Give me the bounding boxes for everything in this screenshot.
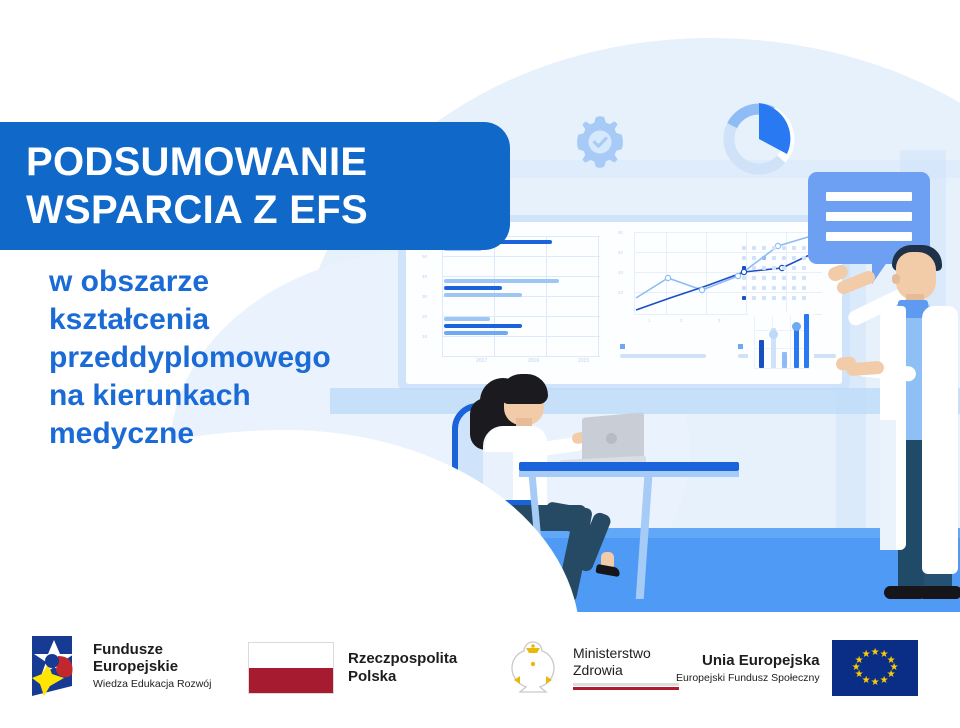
subtitle-line-3: przeddyplomowego bbox=[49, 339, 469, 377]
rp-title-1: Rzeczpospolita bbox=[348, 650, 457, 668]
poster-canvas: 60 50 40 30 20 10 2017 2016 2015 bbox=[0, 0, 960, 728]
desk-top bbox=[519, 462, 739, 471]
man-labcoat-right bbox=[922, 306, 958, 574]
ue-subtitle: Europejski Fundusz Społeczny bbox=[676, 672, 820, 684]
polish-eagle-icon bbox=[504, 636, 562, 698]
logo-unia-europejska: Unia Europejska Europejski Fundusz Społe… bbox=[676, 640, 918, 696]
fundusze-europejskie-icon bbox=[24, 634, 80, 698]
footer-logo-bar: Fundusze Europejskie Wiedza Edukacja Roz… bbox=[0, 612, 960, 728]
gear-check-icon bbox=[570, 112, 630, 172]
mz-title-1: Ministerstwo bbox=[573, 645, 679, 662]
fe-title-2: Europejskie bbox=[93, 659, 211, 676]
title-line-1: PODSUMOWANIE bbox=[26, 138, 510, 186]
ue-title-1: Unia Europejska bbox=[676, 652, 820, 670]
man-head bbox=[896, 252, 936, 300]
man-shoe-right bbox=[920, 586, 960, 599]
title-line-2: WSPARCIA Z EFS bbox=[26, 186, 510, 234]
woman-hair-front bbox=[500, 374, 548, 404]
subtitle-line-5: medyczne bbox=[49, 415, 469, 453]
fe-subtitle: Wiedza Edukacja Rozwój bbox=[93, 678, 211, 690]
subtitle-line-4: na kierunkach bbox=[49, 377, 469, 415]
mz-title-2: Zdrowia bbox=[573, 662, 679, 679]
man-ear bbox=[892, 274, 900, 284]
title-banner: PODSUMOWANIE WSPARCIA Z EFS bbox=[0, 122, 510, 250]
logo-ministerstwo-zdrowia: Ministerstwo Zdrowia bbox=[504, 636, 679, 698]
man-labcoat-shadow bbox=[880, 420, 896, 550]
vertical-bar-chart bbox=[748, 312, 814, 374]
subtitle-line-1: w obszarze bbox=[49, 263, 469, 301]
fe-title-1: Fundusze bbox=[93, 642, 211, 659]
donut-chart bbox=[718, 98, 800, 180]
eu-flag-icon: ★ ★ ★ ★ ★ ★ ★ ★ ★ ★ ★ ★ bbox=[832, 640, 918, 696]
laptop-logo bbox=[606, 433, 617, 444]
subtitle-line-2: kształcenia bbox=[49, 301, 469, 339]
man-shoe-left bbox=[884, 586, 924, 599]
desk-apron bbox=[519, 471, 739, 477]
rp-title-2: Polska bbox=[348, 668, 457, 686]
mz-accent-bar bbox=[573, 683, 679, 690]
logo-rzeczpospolita-polska: Rzeczpospolita Polska bbox=[248, 642, 457, 694]
subtitle: w obszarze kształcenia przeddyplomowego … bbox=[49, 263, 469, 453]
logo-fundusze-europejskie: Fundusze Europejskie Wiedza Edukacja Roz… bbox=[24, 634, 211, 698]
dot-matrix-graphic bbox=[742, 246, 816, 302]
polish-flag-icon bbox=[248, 642, 334, 694]
